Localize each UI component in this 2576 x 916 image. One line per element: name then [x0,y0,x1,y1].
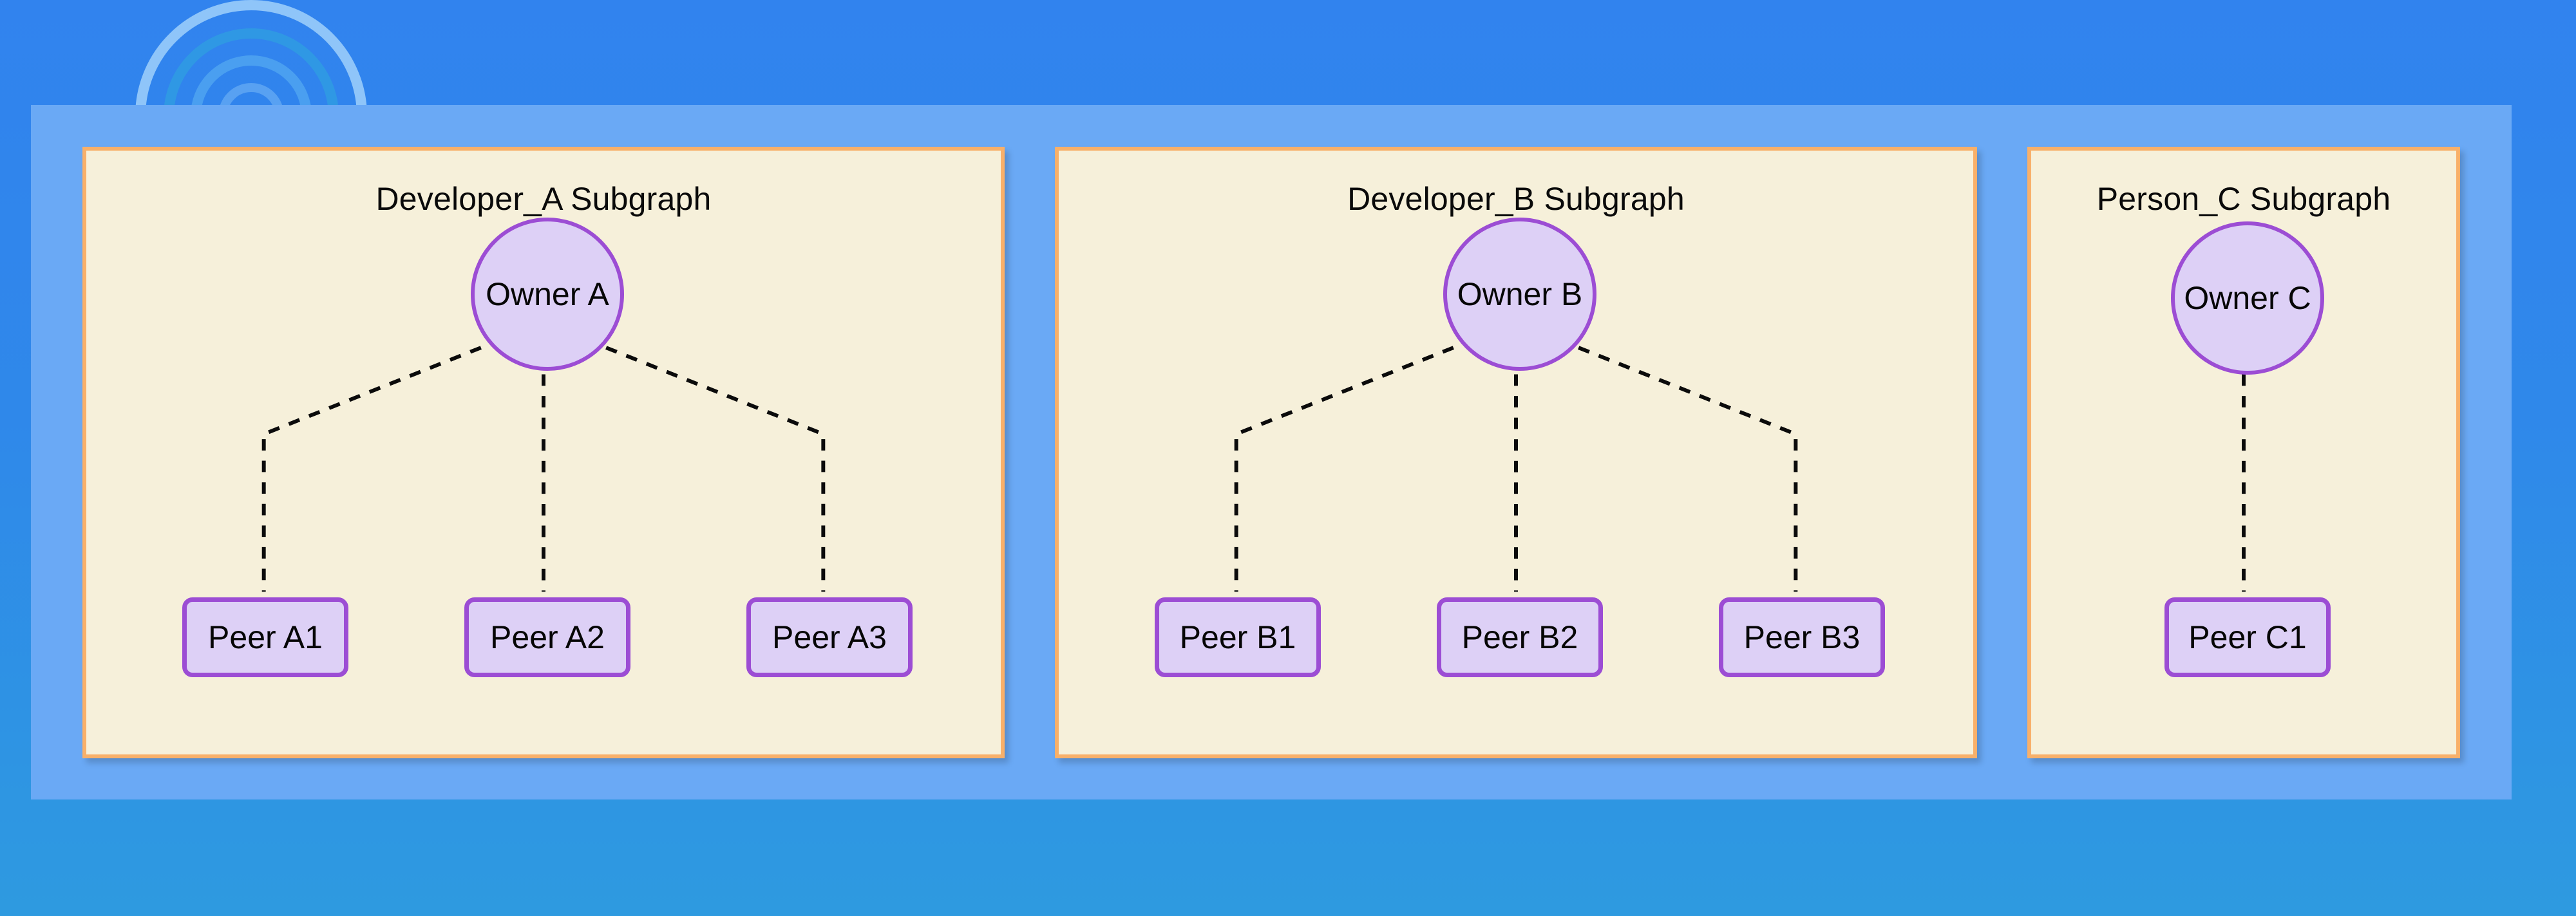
node-owner-b[interactable]: Owner B [1443,218,1596,371]
node-peer-a3[interactable]: Peer A3 [746,597,913,677]
subgraph-developer-a[interactable]: Developer_A Subgraph Owner A Peer A1 Pee… [82,147,1005,758]
node-peer-b1-label: Peer B1 [1180,619,1296,656]
node-peer-a3-label: Peer A3 [772,619,887,656]
node-owner-a[interactable]: Owner A [471,218,624,371]
node-peer-b2-label: Peer B2 [1462,619,1578,656]
edge-owner-a-peer-a1 [264,348,481,592]
diagram-canvas: Developer_A Subgraph Owner A Peer A1 Pee… [0,0,2576,916]
edge-owner-b-peer-b3 [1578,348,1795,592]
node-peer-a1[interactable]: Peer A1 [182,597,348,677]
node-peer-b1[interactable]: Peer B1 [1155,597,1321,677]
subgraph-developer-b[interactable]: Developer_B Subgraph Owner B Peer B1 Pee… [1055,147,1977,758]
edge-owner-b-peer-b1 [1236,348,1454,592]
subgraph-row: Developer_A Subgraph Owner A Peer A1 Pee… [82,147,2460,758]
subgraph-person-c[interactable]: Person_C Subgraph Owner C Peer C1 [2027,147,2460,758]
node-peer-a2[interactable]: Peer A2 [464,597,630,677]
node-peer-b3-label: Peer B3 [1744,619,1861,656]
node-owner-c-label: Owner C [2184,279,2311,317]
node-peer-a2-label: Peer A2 [490,619,605,656]
node-owner-b-label: Owner B [1457,276,1583,313]
node-peer-c1-label: Peer C1 [2188,619,2306,656]
node-owner-a-label: Owner A [486,276,609,313]
node-peer-b3[interactable]: Peer B3 [1719,597,1885,677]
node-peer-c1[interactable]: Peer C1 [2164,597,2331,677]
edge-owner-a-peer-a3 [606,348,823,592]
node-peer-b2[interactable]: Peer B2 [1437,597,1603,677]
node-peer-a1-label: Peer A1 [208,619,323,656]
node-owner-c[interactable]: Owner C [2171,221,2324,375]
